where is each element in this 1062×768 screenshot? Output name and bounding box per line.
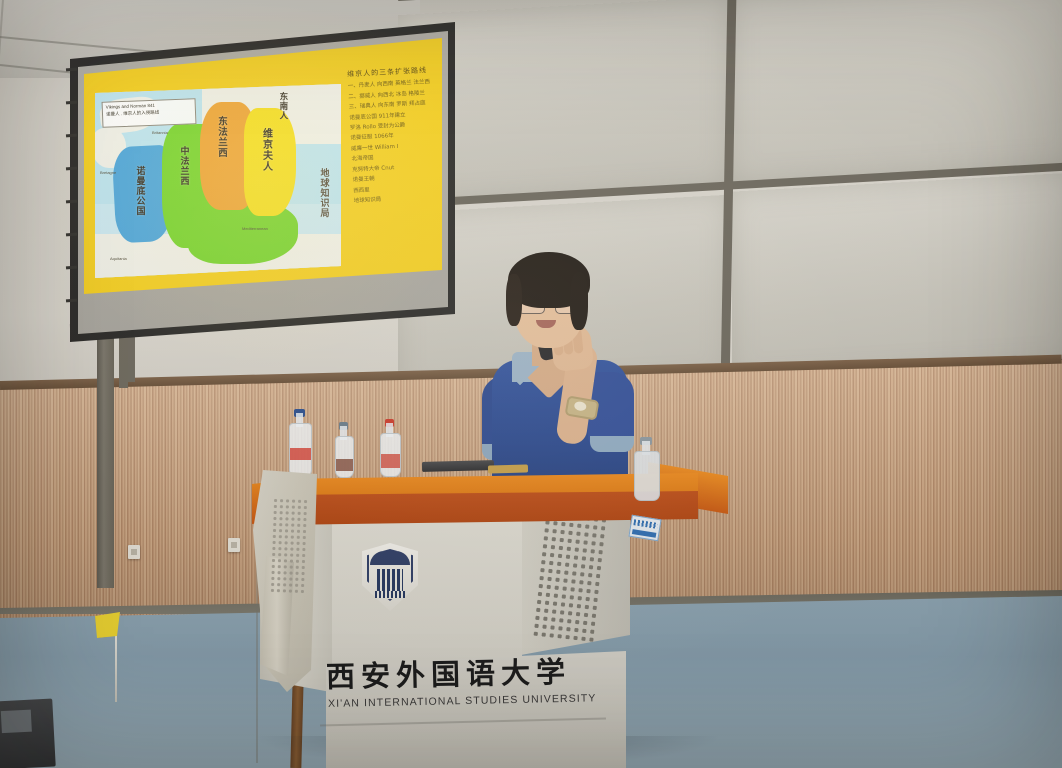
map-label-middle: 中法兰西	[178, 146, 187, 186]
microphone-tray[interactable]	[422, 460, 494, 472]
water-bottle[interactable]	[380, 419, 399, 475]
lectern[interactable]: 西安外国语大学 XI'AN INTERNATIONAL STUDIES UNIV…	[252, 455, 722, 768]
map-micro-label-2: Aquitania	[110, 256, 127, 261]
screen-tension-hooks	[66, 68, 77, 332]
map-caption-box: Vikings and Norman 841 诺曼人 . 维京人的入侵路线	[102, 98, 197, 128]
floor-marker-flag-icon	[95, 612, 120, 638]
inspection-label-sticker	[628, 515, 661, 541]
lecture-hall-photo: 诺曼底公国 中法兰西 东法兰西 维京夫人 东南人 地球知识局 Vikings a…	[0, 0, 1062, 768]
university-crest	[362, 543, 418, 611]
podium-grille-left	[269, 497, 308, 594]
floor-equipment-box	[0, 698, 56, 768]
projection-screen[interactable]: 诺曼底公国 中法兰西 东法兰西 维京夫人 东南人 地球知识局 Vikings a…	[62, 22, 457, 352]
slide-notes: 维京人的三条扩张路线 一、丹麦人 向西南 英格兰 法兰西 二、挪威人 向西北 冰…	[347, 64, 445, 268]
water-bottle[interactable]	[335, 422, 352, 476]
wall-panel	[732, 172, 1062, 381]
speaker-grille-icon	[532, 510, 607, 642]
nameplate-seam	[320, 718, 606, 727]
water-bottle[interactable]	[289, 409, 310, 475]
presenter-hair-side	[570, 272, 588, 330]
map-micro-label-0: Britannia	[152, 130, 168, 135]
university-name-chinese: 西安外国语大学	[326, 648, 607, 696]
map-label-west: 诺曼底公国	[134, 166, 143, 216]
wall-outlet[interactable]	[228, 538, 240, 552]
map-label-north: 东法兰西	[216, 116, 226, 158]
presenter-cuff-right	[590, 436, 634, 452]
desk-accessory[interactable]	[488, 464, 528, 473]
map-micro-label-3: Mediterranean	[242, 226, 268, 231]
water-bottle[interactable]	[634, 437, 658, 499]
flag-pole	[115, 628, 117, 702]
map-label-east: 维京夫人	[260, 128, 271, 172]
presenter-hair-side	[506, 274, 522, 326]
map-annotation-0: 东南人	[278, 92, 287, 121]
lectern-nameplate: 西安外国语大学 XI'AN INTERNATIONAL STUDIES UNIV…	[320, 643, 610, 767]
map-annotation-1: 地球知识局	[318, 168, 327, 218]
support-column	[97, 318, 114, 588]
wall-outlet[interactable]	[128, 545, 140, 559]
map-micro-label-1: Bretagne	[100, 170, 116, 175]
wall-panel	[732, 0, 1062, 184]
slide-map: 诺曼底公国 中法兰西 东法兰西 维京夫人 东南人 地球知识局 Vikings a…	[92, 84, 342, 280]
